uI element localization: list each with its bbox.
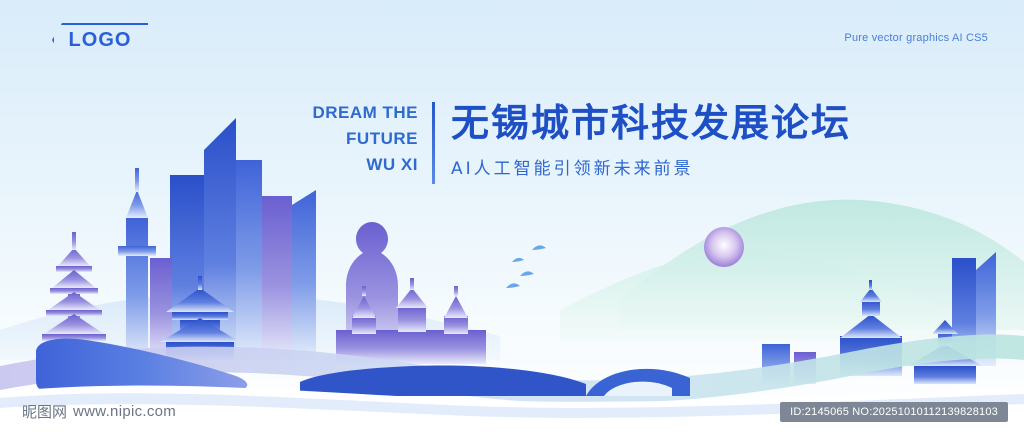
watermark-site-url: www.nipic.com: [73, 403, 176, 420]
english-title-line2: FUTURE: [308, 126, 418, 152]
logo[interactable]: LOGO: [52, 23, 148, 57]
english-title-line3: WU XI: [308, 152, 418, 178]
page-title: 无锡城市科技发展论坛: [451, 100, 851, 146]
chinese-title-group: 无锡城市科技发展论坛 AI人工智能引领新未来前景: [435, 100, 851, 179]
watermark: 昵图网 www.nipic.com: [22, 401, 176, 422]
watermark-site-cn: 昵图网: [22, 401, 67, 422]
page-subtitle: AI人工智能引领新未来前景: [451, 154, 851, 179]
logo-label: LOGO: [69, 29, 132, 52]
poster-canvas: LOGO Pure vector graphics AI CS5 DREAM T…: [0, 0, 1024, 432]
asset-id-badge: ID:2145065 NO:20251010112139828103: [780, 402, 1008, 422]
english-title-line1: DREAM THE: [308, 100, 418, 126]
vector-tagline: Pure vector graphics AI CS5: [844, 32, 988, 44]
english-title: DREAM THE FUTURE WU XI: [308, 100, 432, 178]
title-block: DREAM THE FUTURE WU XI 无锡城市科技发展论坛 AI人工智能…: [308, 100, 851, 184]
city-skyline-illustration: [0, 0, 1024, 432]
